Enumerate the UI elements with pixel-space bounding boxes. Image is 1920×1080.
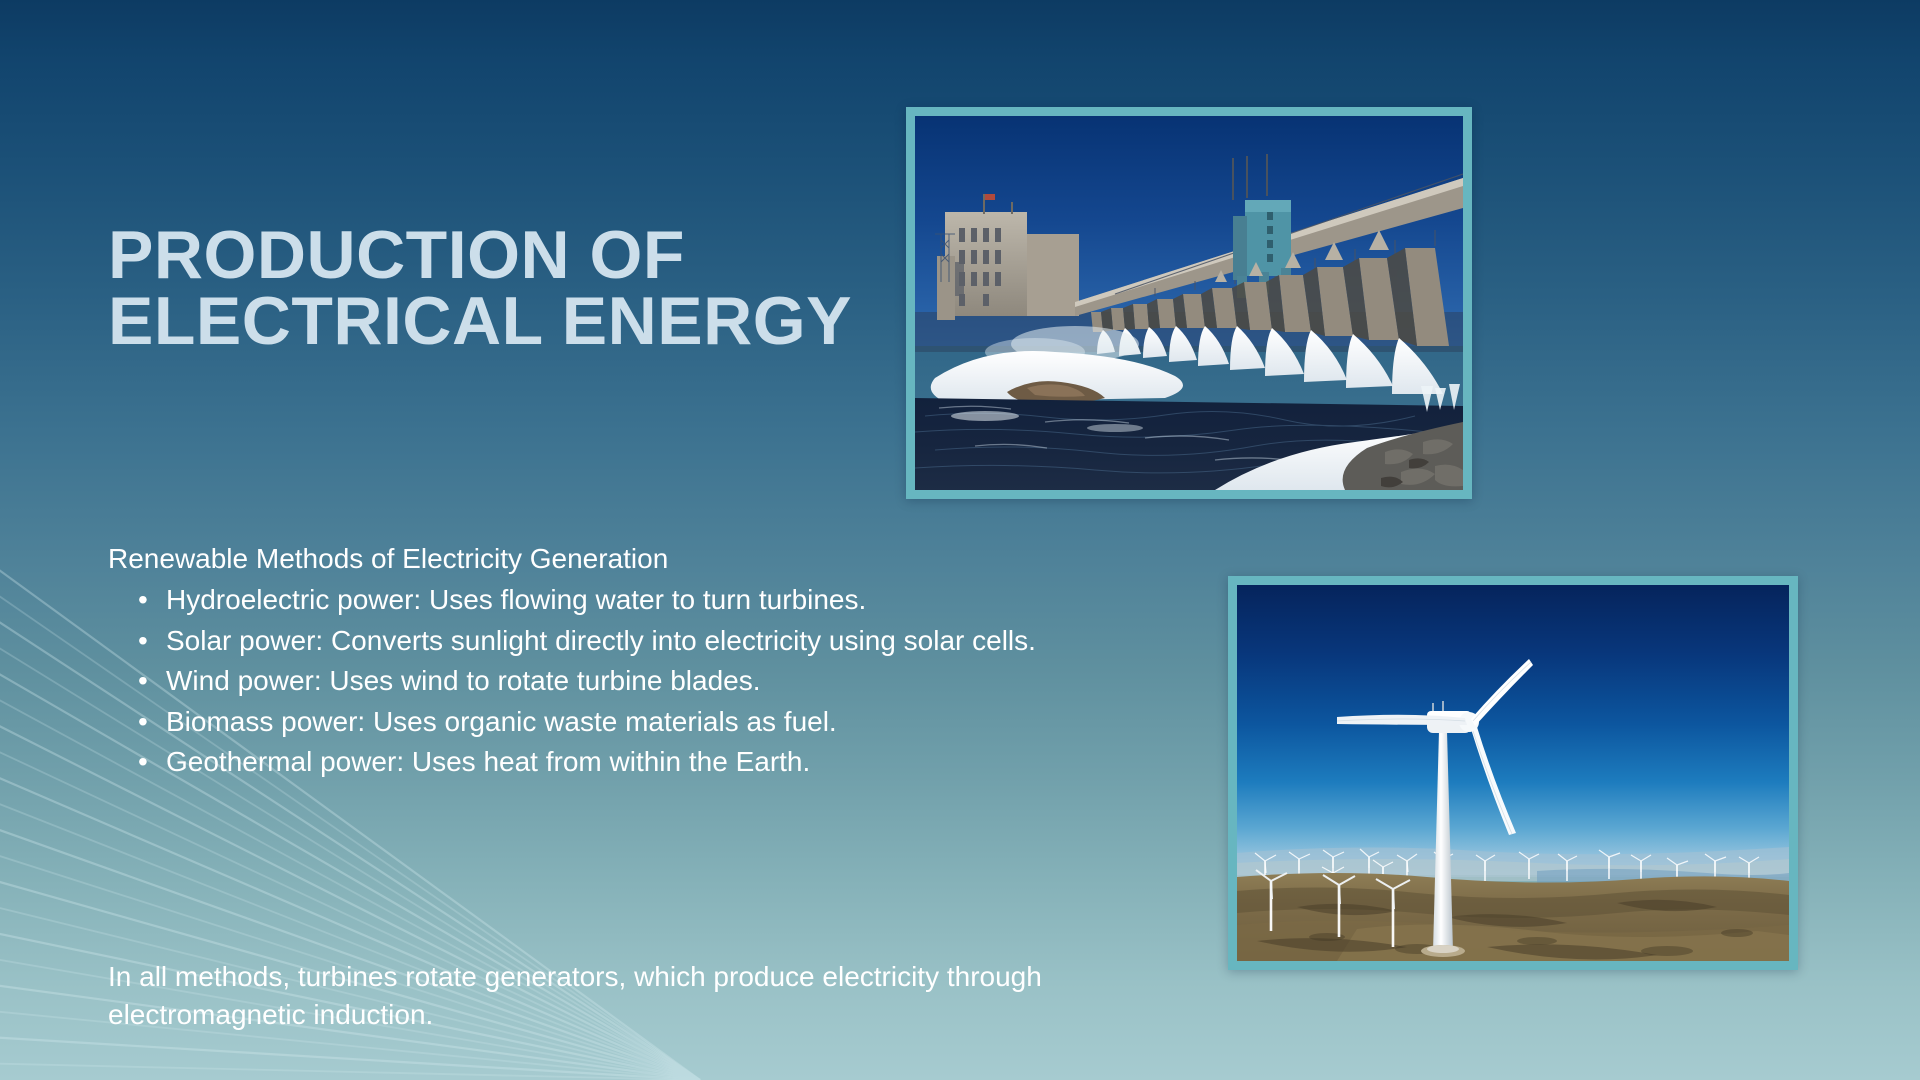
renewable-methods-list: • Hydroelectric power: Uses flowing wate…: [108, 581, 1193, 781]
list-item: • Solar power: Converts sunlight directl…: [108, 622, 1193, 660]
body-content: Renewable Methods of Electricity Generat…: [108, 540, 1193, 784]
list-item-label: Solar power: Converts sunlight directly …: [166, 625, 1036, 656]
list-item: • Wind power: Uses wind to rotate turbin…: [108, 662, 1193, 700]
body-lead-text: Renewable Methods of Electricity Generat…: [108, 540, 1193, 577]
wind-turbine-photo-frame: [1228, 576, 1798, 970]
bullet-marker-icon: •: [138, 662, 148, 700]
list-item-label: Biomass power: Uses organic waste materi…: [166, 706, 837, 737]
hydroelectric-dam-photo-frame: [906, 107, 1472, 499]
bullet-marker-icon: •: [138, 743, 148, 781]
closing-paragraph: In all methods, turbines rotate generato…: [108, 958, 1198, 1033]
bullet-marker-icon: •: [138, 581, 148, 619]
bullet-marker-icon: •: [138, 703, 148, 741]
wind-turbine-photo: [1237, 585, 1789, 961]
list-item: • Biomass power: Uses organic waste mate…: [108, 703, 1193, 741]
bullet-marker-icon: •: [138, 622, 148, 660]
list-item-label: Geothermal power: Uses heat from within …: [166, 746, 810, 777]
list-item-label: Hydroelectric power: Uses flowing water …: [166, 584, 866, 615]
list-item-label: Wind power: Uses wind to rotate turbine …: [166, 665, 761, 696]
slide-canvas: PRODUCTION OF ELECTRICAL ENERGY Renewabl…: [0, 0, 1920, 1080]
list-item: • Geothermal power: Uses heat from withi…: [108, 743, 1193, 781]
hydroelectric-dam-photo: [915, 116, 1463, 490]
page-title: PRODUCTION OF ELECTRICAL ENERGY: [108, 222, 868, 355]
list-item: • Hydroelectric power: Uses flowing wate…: [108, 581, 1193, 619]
